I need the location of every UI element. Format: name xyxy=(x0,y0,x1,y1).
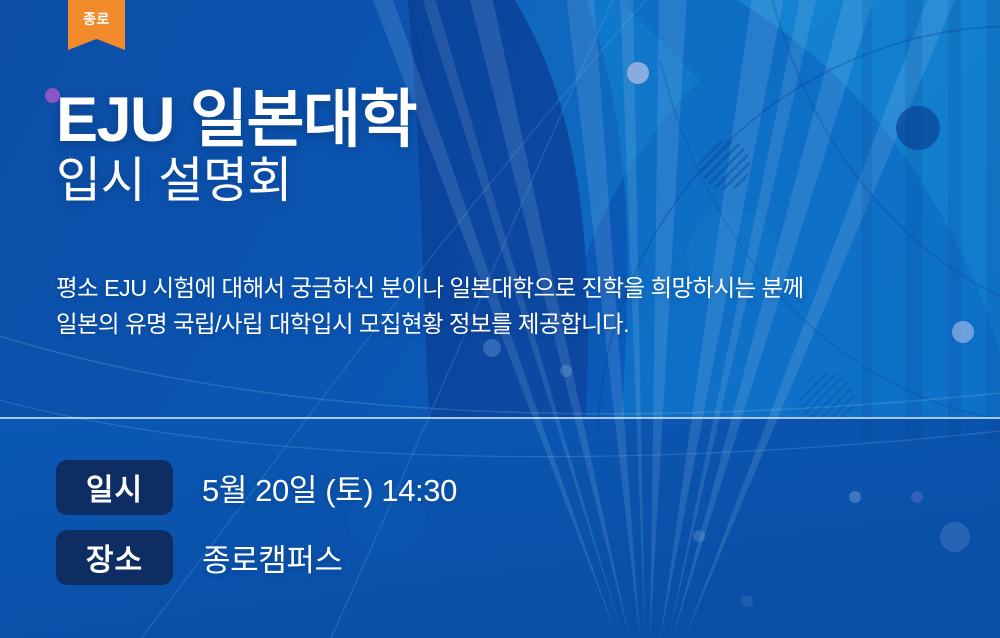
description-line-2: 일본의 유명 국립/사립 대학입시 모집현황 정보를 제공합니다. xyxy=(56,306,976,342)
page-title: EJU 일본대학 xyxy=(56,88,416,152)
description: 평소 EJU 시험에 대해서 궁금하신 분이나 일본대학으로 진학을 희망하시는… xyxy=(56,270,976,343)
location-value: 종로캠퍼스 xyxy=(202,535,343,580)
event-info: 일시 5월 20일 (토) 14:30 장소 종로캠퍼스 xyxy=(56,456,457,588)
page-subtitle: 입시 설명회 xyxy=(56,156,416,207)
info-row-date: 일시 5월 20일 (토) 14:30 xyxy=(56,456,457,518)
location-label-badge: 장소 xyxy=(56,530,173,585)
section-divider xyxy=(0,417,1000,419)
ribbon-label: 종로 xyxy=(68,12,125,26)
description-line-1: 평소 EJU 시험에 대해서 궁금하신 분이나 일본대학으로 진학을 희망하시는… xyxy=(56,270,976,306)
date-value: 5월 20일 (토) 14:30 xyxy=(202,465,457,510)
date-label-badge: 일시 xyxy=(56,460,173,515)
event-banner: 종로 EJU 일본대학 입시 설명회 평소 EJU 시험에 대해서 궁금하신 분… xyxy=(0,0,1000,638)
purple-accent-dot xyxy=(45,88,60,103)
info-row-location: 장소 종로캠퍼스 xyxy=(56,526,457,588)
title-block: EJU 일본대학 입시 설명회 xyxy=(56,88,416,208)
campus-ribbon: 종로 xyxy=(68,0,125,50)
